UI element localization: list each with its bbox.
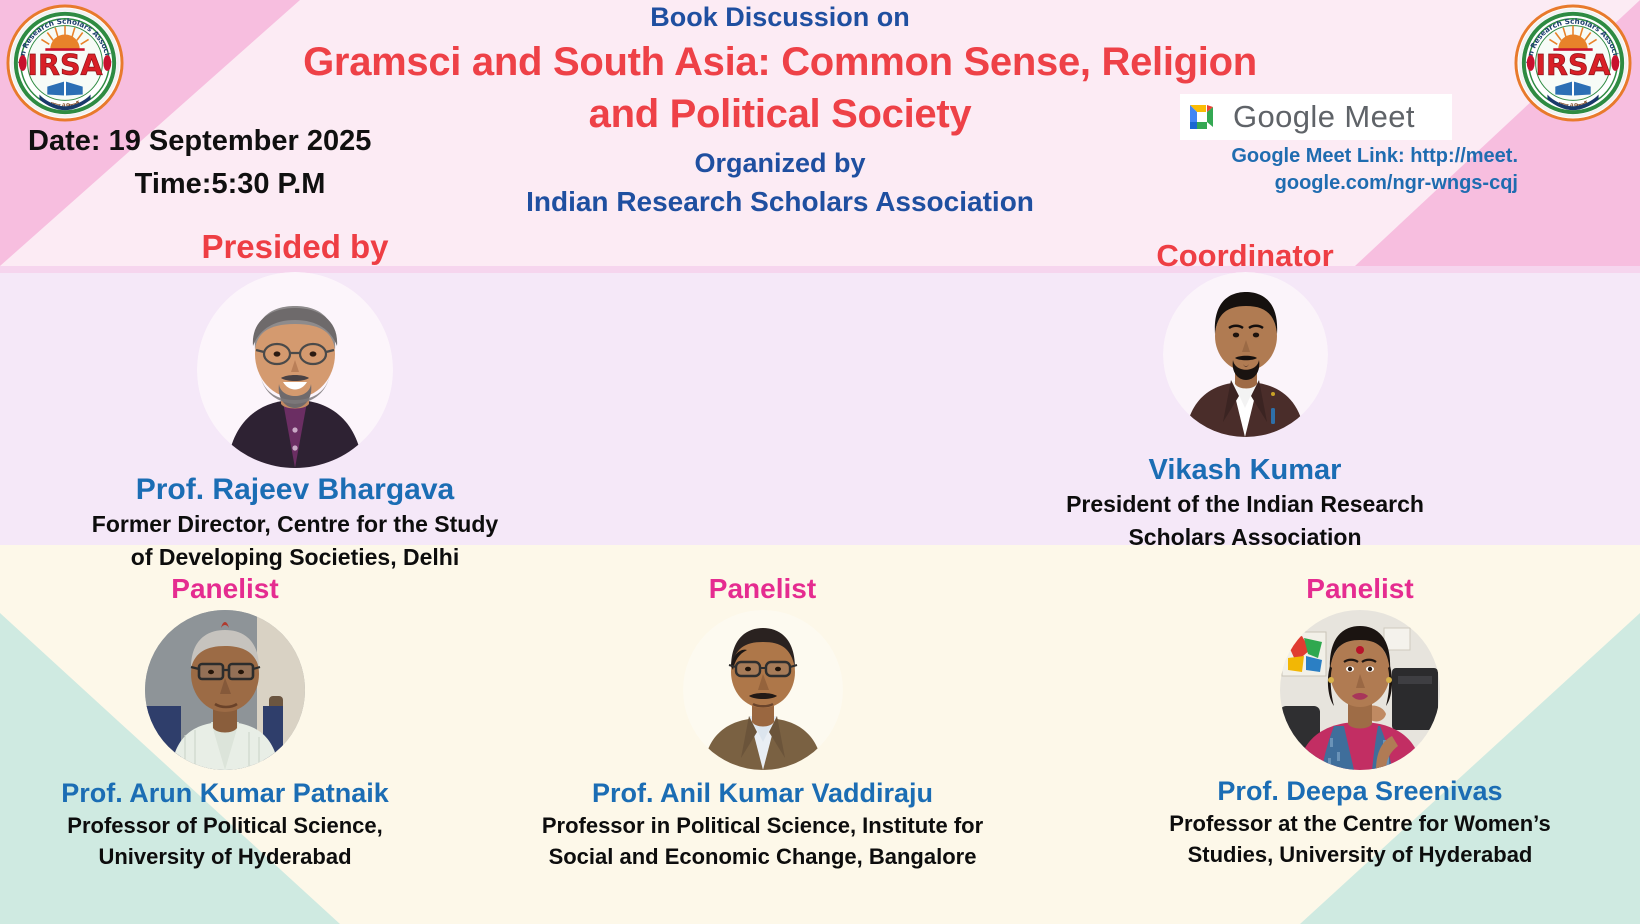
book-discussion-label: Book Discussion on xyxy=(280,0,1280,32)
role-heading-panelist-3: Panelist xyxy=(1090,572,1630,606)
panelist-1-title-line2: University of Hyderabad xyxy=(10,841,440,872)
person-card-panelist-3: Panelist xyxy=(1090,572,1630,870)
presided-person-name: Prof. Rajeev Bhargava xyxy=(60,472,530,508)
google-meet-link-line1: Google Meet Link: http://meet. xyxy=(1180,143,1518,170)
coordinator-person-name: Vikash Kumar xyxy=(1010,453,1480,488)
google-meet-link[interactable]: Google Meet Link: http://meet. google.co… xyxy=(1180,143,1520,197)
role-heading-presided-by: Presided by xyxy=(105,228,485,266)
panelist-2-title-line1: Professor in Political Science, Institut… xyxy=(505,810,1020,841)
panelist-2-name: Prof. Anil Kumar Vaddiraju xyxy=(505,776,1020,810)
coordinator-person-title-line1: President of the Indian Research xyxy=(1010,488,1480,521)
panelist-3-name: Prof. Deepa Sreenivas xyxy=(1090,774,1630,808)
panelist-1-title-line1: Professor of Political Science, xyxy=(10,810,440,841)
panelist-3-title-line1: Professor at the Centre for Women’s xyxy=(1090,808,1630,839)
role-heading-panelist-1: Panelist xyxy=(10,572,440,606)
person-card-coordinator: Vikash Kumar President of the Indian Res… xyxy=(1010,272,1480,554)
google-meet-logo: Google Meet xyxy=(1180,94,1452,140)
role-heading-panelist-2: Panelist xyxy=(505,572,1020,606)
role-heading-coordinator: Coordinator xyxy=(1055,238,1435,274)
person-card-presided: Prof. Rajeev Bhargava Former Director, C… xyxy=(60,272,530,574)
person-card-panelist-1: Panelist xyxy=(10,572,440,872)
avatar-anil-kumar-vaddiraju xyxy=(683,610,843,770)
google-meet-brand: Google Meet xyxy=(1233,101,1415,133)
avatar-arun-kumar-patnaik xyxy=(145,610,305,770)
panelist-2-title-line2: Social and Economic Change, Bangalore xyxy=(505,841,1020,872)
google-meet-block[interactable]: Google Meet Google Meet Link: http://mee… xyxy=(1180,94,1520,197)
irsa-logo-right: Indian Research Scholars Association भार… xyxy=(1514,4,1632,122)
google-meet-link-line2: google.com/ngr-wngs-cqj xyxy=(1180,170,1518,197)
panelist-3-title-line2: Studies, University of Hyderabad xyxy=(1090,839,1630,870)
avatar-deepa-sreenivas xyxy=(1280,610,1440,770)
avatar-rajeev-bhargava xyxy=(197,272,393,468)
panelist-1-name: Prof. Arun Kumar Patnaik xyxy=(10,776,440,810)
event-date: Date: 19 September 2025 xyxy=(20,120,440,163)
svg-text:IRSA: IRSA xyxy=(27,49,102,82)
svg-text:IRSA: IRSA xyxy=(1535,49,1610,82)
video-camera-icon xyxy=(1186,101,1226,133)
event-datetime: Date: 19 September 2025 Time:5:30 P.M xyxy=(20,120,440,206)
event-time: Time:5:30 P.M xyxy=(20,163,440,206)
presided-person-title-line2: of Developing Societies, Delhi xyxy=(60,541,530,574)
coordinator-person-title-line2: Scholars Association xyxy=(1010,521,1480,554)
irsa-logo-left: Indian Research Scholars Association भार… xyxy=(6,4,124,122)
person-card-panelist-2: Panelist xyxy=(505,572,1020,872)
presided-person-title-line1: Former Director, Centre for the Study xyxy=(60,508,530,541)
avatar-vikash-kumar xyxy=(1163,272,1328,437)
poster-canvas: Indian Research Scholars Association भार… xyxy=(0,0,1640,924)
